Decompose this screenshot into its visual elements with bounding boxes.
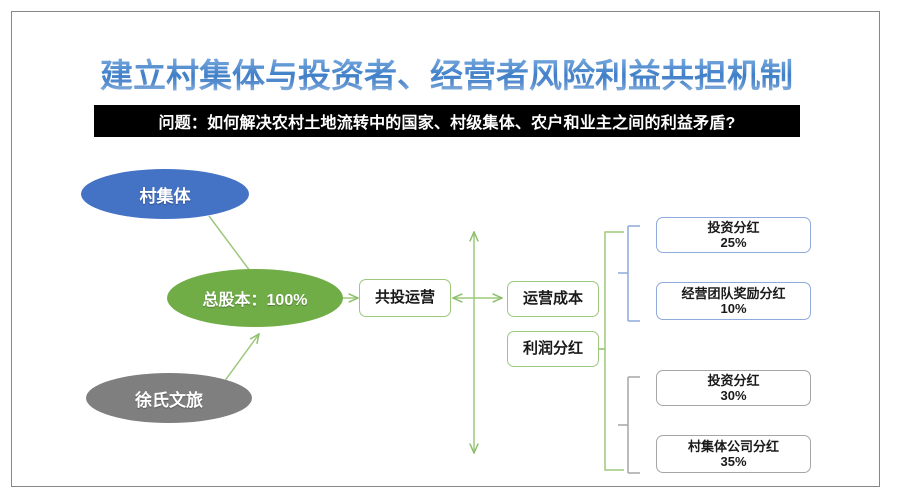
node-xushi-wenlv[interactable]: 徐氏文旅 xyxy=(86,373,252,423)
node-operating-cost[interactable]: 运营成本 xyxy=(507,281,599,317)
node-profit-investment-dividend-label: 投资分红 xyxy=(707,373,759,388)
node-profit-dividend-label: 利润分红 xyxy=(523,340,583,358)
node-total-capital[interactable]: 总股本：100% xyxy=(167,269,343,327)
node-profit-collective-company-label: 村集体公司分红 xyxy=(688,439,779,454)
node-xushi-wenlv-label: 徐氏文旅 xyxy=(135,386,203,411)
node-cost-management-incentive[interactable]: 经营团队奖励分红 10% xyxy=(656,282,811,320)
bracket-blue xyxy=(618,226,640,321)
slide-canvas: 建立村集体与投资者、经营者风险利益共担机制 问题：如何解决农村土地流转中的国家、… xyxy=(11,11,880,487)
node-total-capital-label: 总股本：100% xyxy=(203,286,308,310)
node-profit-collective-company-percent: 35% xyxy=(720,454,746,469)
node-joint-operation-label: 共投运营 xyxy=(375,289,435,307)
node-profit-investment-dividend[interactable]: 投资分红 30% xyxy=(656,370,811,406)
node-cost-investment-dividend-percent: 25% xyxy=(720,235,746,250)
node-cost-management-incentive-label: 经营团队奖励分红 xyxy=(681,286,785,301)
node-cost-investment-dividend-label: 投资分红 xyxy=(707,220,759,235)
node-profit-dividend[interactable]: 利润分红 xyxy=(507,331,599,367)
flow-diagram: 村集体 徐氏文旅 总股本：100% 共投运营 运营成本 利润分红 投资分红 25… xyxy=(12,12,881,488)
node-profit-collective-company[interactable]: 村集体公司分红 35% xyxy=(656,435,811,473)
bracket-gray xyxy=(618,377,640,473)
node-operating-cost-label: 运营成本 xyxy=(523,290,583,308)
bracket-green xyxy=(599,232,624,470)
node-cost-management-incentive-percent: 10% xyxy=(720,301,746,316)
node-profit-investment-dividend-percent: 30% xyxy=(720,388,746,403)
node-joint-operation[interactable]: 共投运营 xyxy=(359,279,451,317)
node-village-collective[interactable]: 村集体 xyxy=(81,169,249,219)
node-village-collective-label: 村集体 xyxy=(140,182,191,207)
node-cost-investment-dividend[interactable]: 投资分红 25% xyxy=(656,217,811,253)
